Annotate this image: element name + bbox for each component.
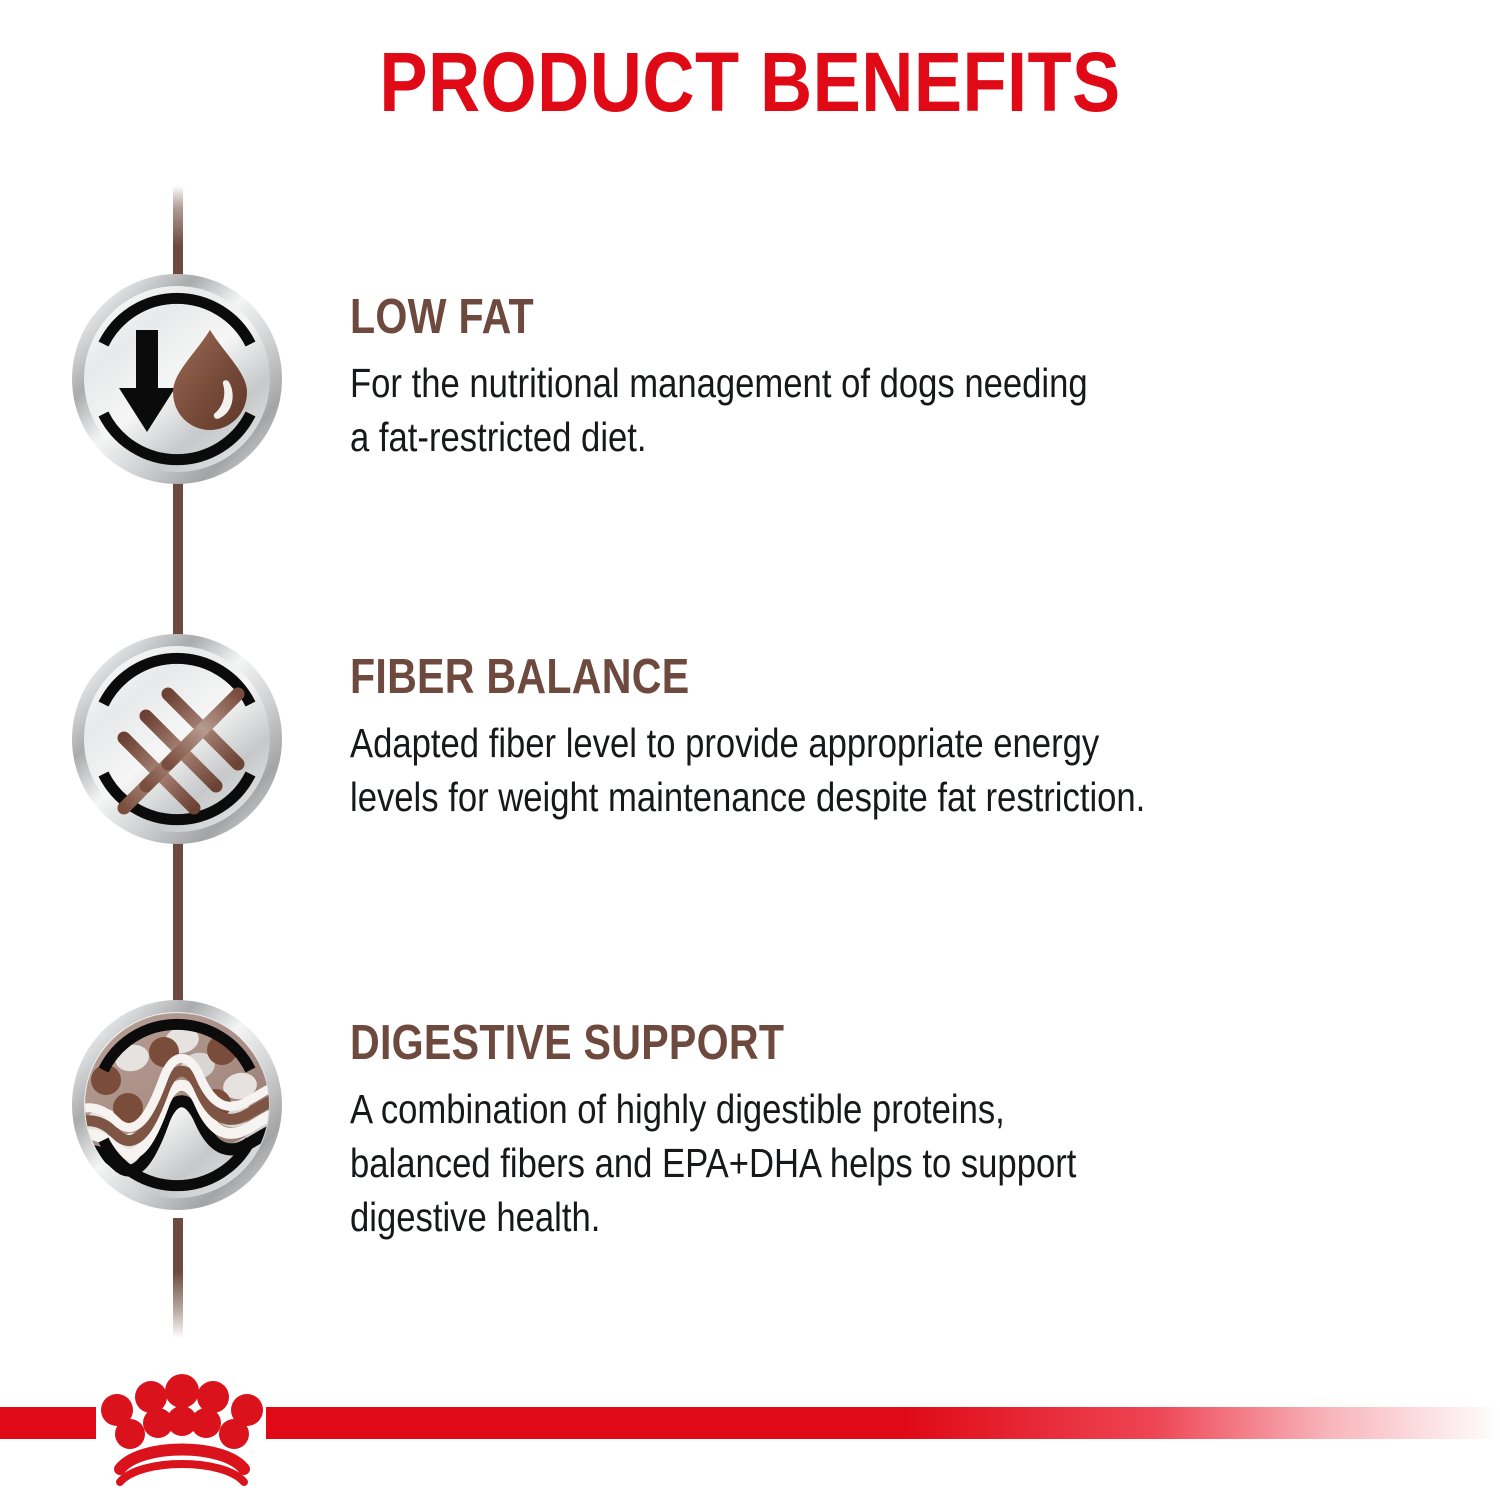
benefit-title: FIBER BALANCE — [350, 650, 1266, 704]
benefit-description: For the nutritional management of dogs n… — [350, 356, 1440, 464]
benefit-title: LOW FAT — [350, 290, 1266, 344]
footer-bar-left — [0, 1407, 96, 1439]
vertical-connector-line-top — [173, 186, 183, 286]
benefit-text-block: FIBER BALANCE Adapted fiber level to pro… — [350, 650, 1440, 824]
low-fat-icon — [70, 272, 284, 486]
digestive-support-icon — [70, 998, 284, 1212]
benefit-description: Adapted fiber level to provide appropria… — [350, 716, 1440, 824]
benefit-text-block: DIGESTIVE SUPPORT A combination of highl… — [350, 1016, 1440, 1244]
benefit-text-block: LOW FAT For the nutritional management o… — [350, 290, 1440, 464]
vertical-connector-line-bottom — [173, 1218, 183, 1338]
royal-canin-crown-logo — [96, 1364, 268, 1486]
footer — [0, 1350, 1500, 1500]
vertical-connector-line-2-3 — [173, 838, 183, 1008]
vertical-connector-line-1-2 — [173, 468, 183, 648]
benefit-description: A combination of highly digestible prote… — [350, 1082, 1440, 1244]
page-title: PRODUCT BENEFITS — [105, 34, 1395, 130]
footer-bar-right — [266, 1407, 1500, 1439]
benefit-title: DIGESTIVE SUPPORT — [350, 1016, 1266, 1070]
fiber-balance-icon — [70, 632, 284, 846]
